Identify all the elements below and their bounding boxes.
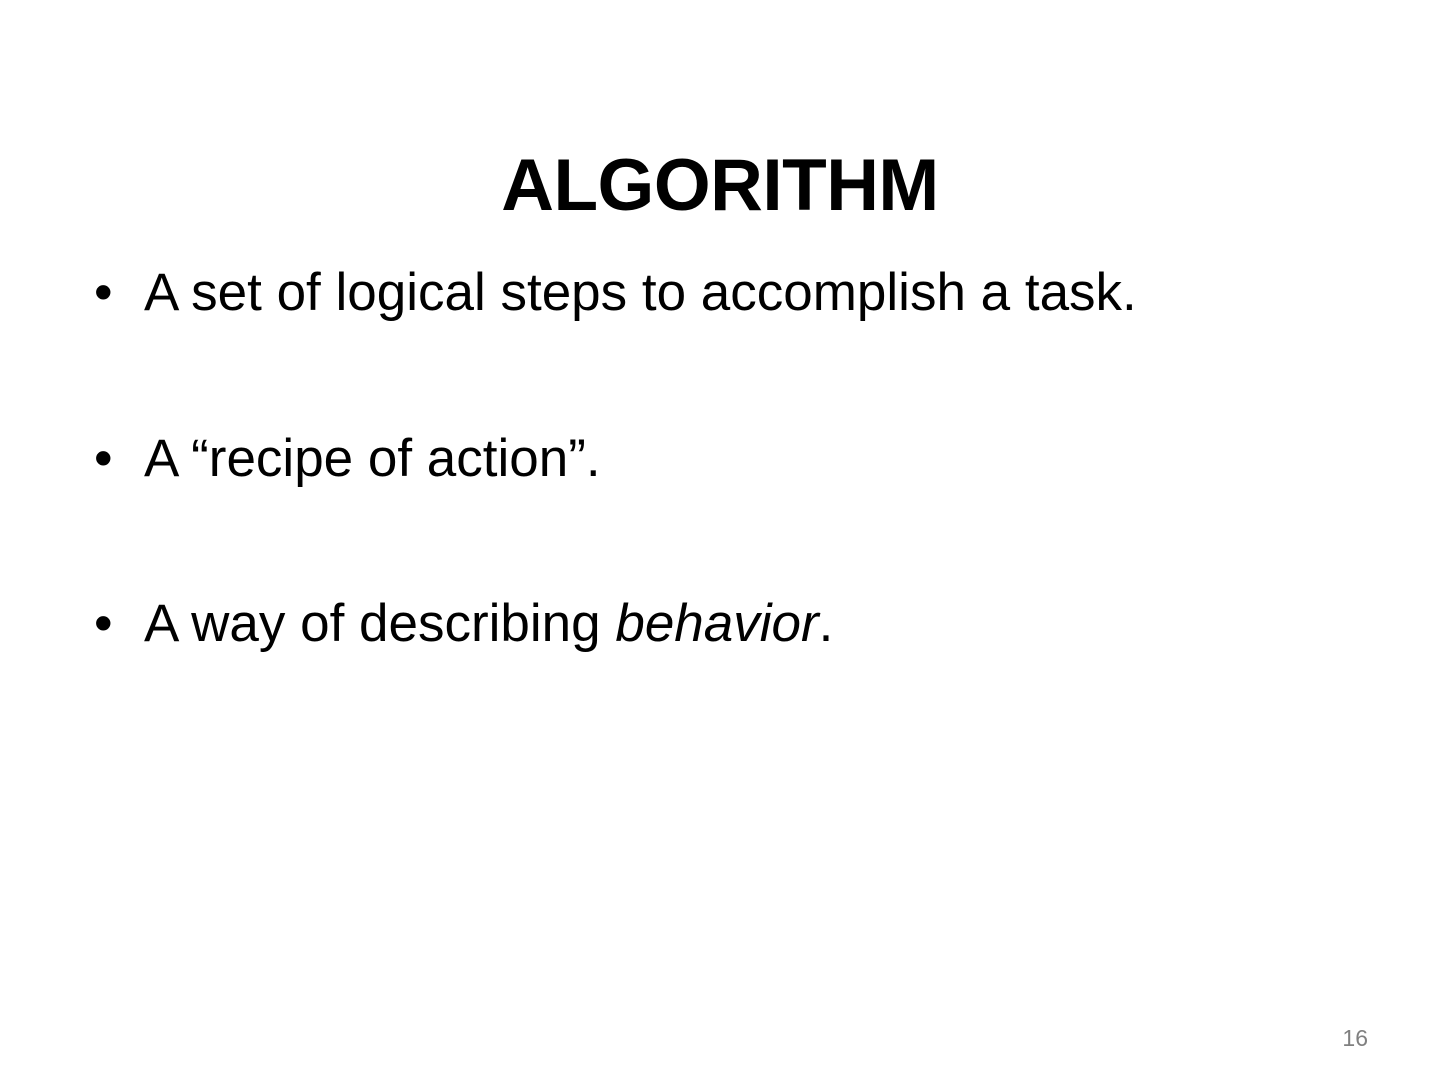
list-item-lead-text: A way of describing bbox=[144, 594, 615, 653]
bullet-point-icon: • bbox=[94, 428, 118, 491]
list-item-label: A way of describing behavior. bbox=[144, 594, 833, 653]
page-number: 16 bbox=[1342, 1027, 1368, 1050]
list-item-trail-text: . bbox=[819, 594, 834, 653]
list-item-label: A “recipe of action”. bbox=[144, 429, 601, 488]
bullet-point-icon: • bbox=[94, 262, 118, 325]
list-item: • A set of logical steps to accomplish a… bbox=[88, 262, 1368, 325]
list-item: • A “recipe of action”. bbox=[88, 428, 1368, 491]
bullet-list: • A set of logical steps to accomplish a… bbox=[88, 262, 1368, 656]
list-item-label: A set of logical steps to accomplish a t… bbox=[144, 263, 1137, 322]
page-title: ALGORITHM bbox=[0, 145, 1440, 227]
slide: ALGORITHM • A set of logical steps to ac… bbox=[0, 0, 1440, 1080]
list-item-emphasis-text: behavior bbox=[615, 594, 818, 653]
list-item: • A way of describing behavior. bbox=[88, 593, 1368, 656]
bullet-point-icon: • bbox=[94, 593, 118, 656]
